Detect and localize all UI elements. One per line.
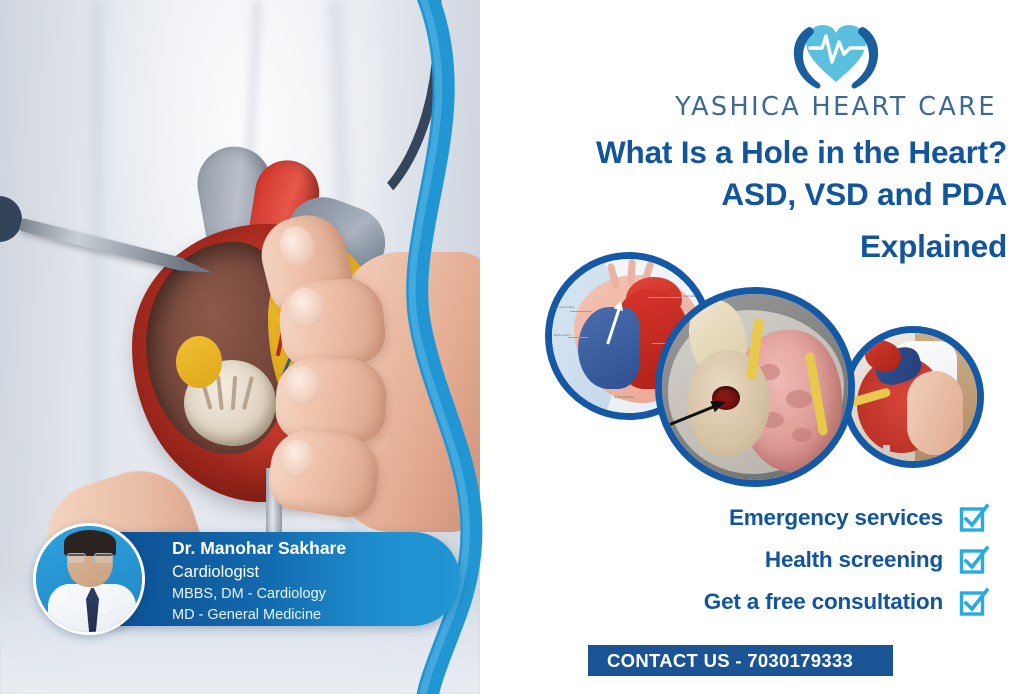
brand-wordmark: YASHICA HEART CARE [666, 92, 1006, 122]
banner-root: YASHICA HEART CARE What Is a Hole in the… [0, 0, 1024, 694]
checkbox-checked-icon[interactable] [959, 587, 989, 617]
avatar [33, 523, 145, 635]
service-item[interactable]: Emergency services [470, 503, 1024, 533]
services-checklist: Emergency services Health screening [470, 503, 1024, 629]
service-item[interactable]: Get a free consultation [470, 587, 1024, 617]
epicardial-fat [176, 336, 222, 388]
brand-logo[interactable]: YASHICA HEART CARE [666, 14, 1006, 132]
finger [276, 275, 388, 371]
checkbox-checked-icon[interactable] [959, 503, 989, 533]
headline-line-1: What Is a Hole in the Heart? [596, 134, 1007, 170]
heart-in-hands-with-ecg-icon [776, 14, 896, 92]
headline-line-2: ASD, VSD and PDA [721, 176, 1007, 212]
doctor-qualification-1: MBBS, DM - Cardiology [172, 584, 472, 605]
doctor-role: Cardiologist [172, 561, 472, 584]
content-panel: YASHICA HEART CARE What Is a Hole in the… [470, 0, 1024, 694]
septal-defect-anatomy [655, 287, 855, 487]
contact-us-bar[interactable]: CONTACT US - 7030179333 [588, 645, 893, 676]
illustration-group: Left atrium Tricuspid valve Right atrium… [470, 230, 1024, 500]
doctor-info-card: Dr. Manohar Sakhare Cardiologist MBBS, D… [33, 525, 460, 633]
service-label: Emergency services [729, 505, 943, 531]
service-label: Health screening [765, 547, 943, 573]
heart-model-photo [842, 326, 984, 468]
doctor-qualification-2: MD - General Medicine [172, 605, 472, 626]
doctor-details: Dr. Manohar Sakhare Cardiologist MBBS, D… [172, 536, 472, 626]
service-item[interactable]: Health screening [470, 545, 1024, 575]
checkbox-checked-icon[interactable] [959, 545, 989, 575]
service-label: Get a free consultation [704, 589, 943, 615]
doctor-name: Dr. Manohar Sakhare [172, 536, 472, 561]
